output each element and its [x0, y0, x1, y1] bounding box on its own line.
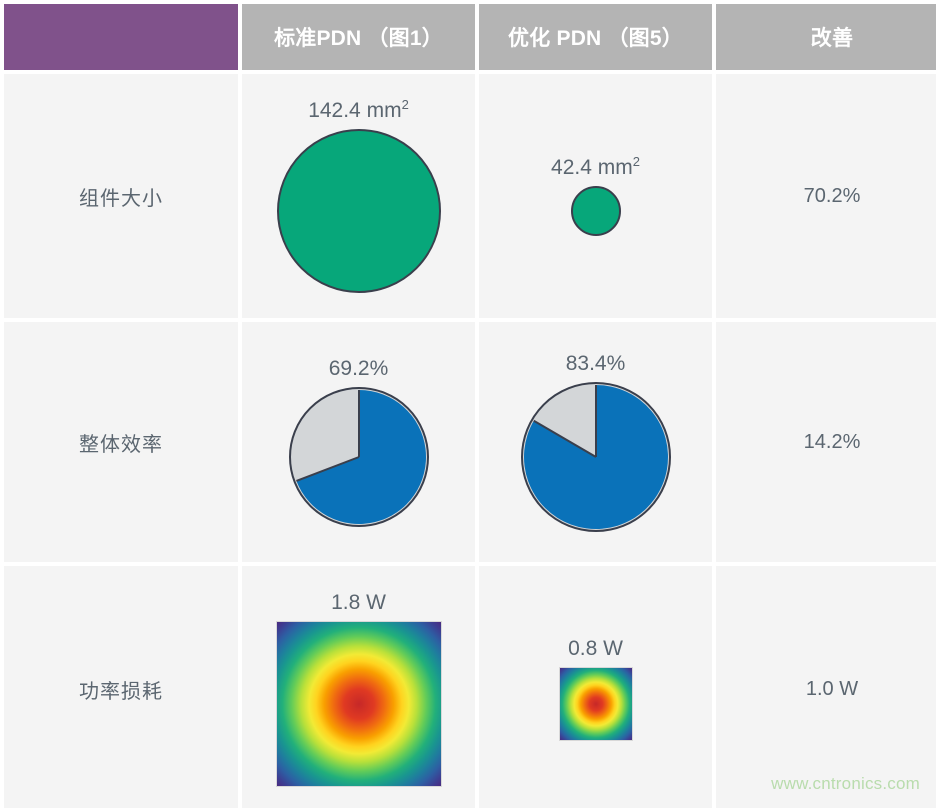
comparison-table: 标准PDN （图1） 优化 PDN （图5） 改善 组件大小 142.4 mm2 [0, 0, 936, 808]
table-header-row: 标准PDN （图1） 优化 PDN （图5） 改善 [4, 4, 936, 70]
value-label-efficiency-standard: 69.2% [329, 357, 389, 380]
area-circle-optimized [571, 186, 621, 236]
improvement-power-loss: 1.0 W [716, 566, 936, 808]
value-label-efficiency-optimized: 83.4% [566, 352, 626, 375]
value-label-power-loss-standard: 1.8 W [331, 591, 386, 614]
row-label-overall-efficiency: 整体效率 [4, 322, 238, 562]
cell-power-loss-standard: 1.8 W [242, 566, 475, 808]
cell-component-size-optimized: 42.4 mm2 [479, 74, 712, 318]
cell-efficiency-standard: 69.2% [242, 322, 475, 562]
value-label-component-size-standard: 142.4 mm2 [308, 99, 409, 122]
table-row-overall-efficiency: 整体效率 69.2% [4, 322, 936, 562]
table-row-power-loss: 功率损耗 1.8 W 0.8 W 1.0 W [4, 566, 936, 808]
improvement-overall-efficiency: 14.2% [716, 322, 936, 562]
cell-efficiency-optimized: 83.4% [479, 322, 712, 562]
cell-component-size-standard: 142.4 mm2 [242, 74, 475, 318]
value-label-power-loss-optimized: 0.8 W [568, 637, 623, 660]
value-unit: mm [592, 156, 633, 179]
value-unit-exponent: 2 [633, 154, 640, 169]
header-optimized-pdn: 优化 PDN （图5） [479, 4, 712, 70]
pie-chart-optimized [521, 382, 671, 532]
comparison-infographic: 标准PDN （图1） 优化 PDN （图5） 改善 组件大小 142.4 mm2 [0, 0, 936, 808]
value-unit-exponent: 2 [402, 97, 409, 112]
improvement-component-size: 70.2% [716, 74, 936, 318]
cell-power-loss-optimized: 0.8 W [479, 566, 712, 808]
value-label-component-size-optimized: 42.4 mm2 [551, 156, 640, 179]
row-label-power-loss: 功率损耗 [4, 566, 238, 808]
header-corner-cell [4, 4, 238, 70]
table-row-component-size: 组件大小 142.4 mm2 42.4 mm2 [4, 74, 936, 318]
row-label-component-size: 组件大小 [4, 74, 238, 318]
value-number: 142.4 [308, 99, 361, 122]
header-standard-pdn: 标准PDN （图1） [242, 4, 475, 70]
header-improvement: 改善 [716, 4, 936, 70]
heatmap-optimized [559, 667, 633, 741]
pie-chart-standard [289, 387, 429, 527]
value-number: 42.4 [551, 156, 592, 179]
value-unit: mm [361, 99, 402, 122]
area-circle-standard [277, 129, 441, 293]
heatmap-standard [276, 621, 442, 787]
